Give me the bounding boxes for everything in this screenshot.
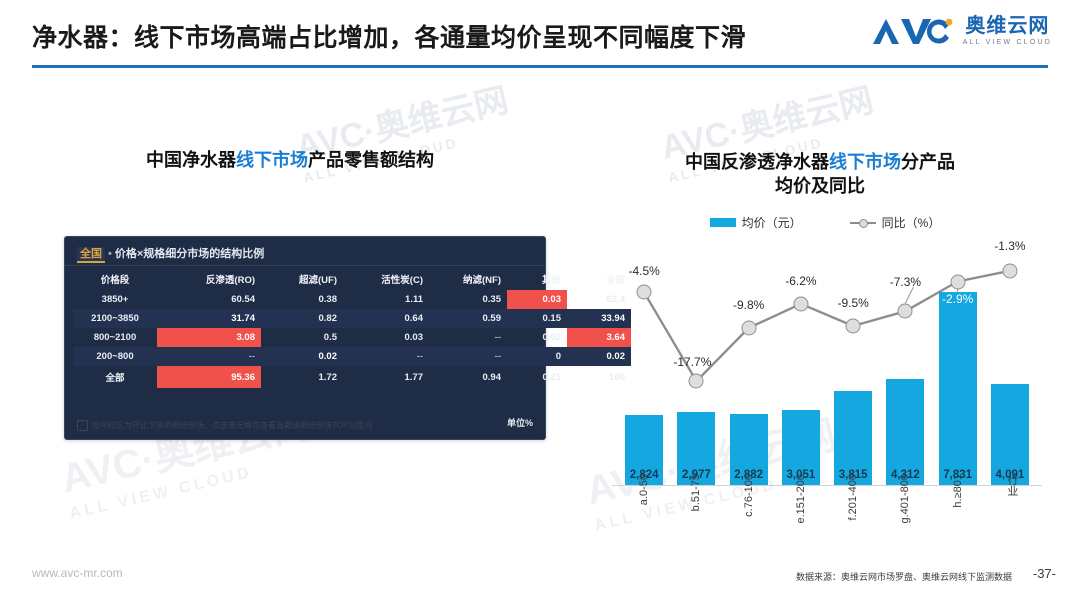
table-cell[interactable]: 0.15 xyxy=(507,309,567,328)
table-cell[interactable]: 0.94 xyxy=(429,366,507,388)
table-cell[interactable]: -- xyxy=(429,347,507,366)
legend-item-avg-price[interactable]: 均价（元） xyxy=(710,214,802,231)
chart-bar[interactable]: 7,831 xyxy=(939,292,977,485)
chart-line-point[interactable] xyxy=(637,285,652,300)
table-footnote: 图中红区为环比下降的细分市场，点击单元格可查看当期该细分市场TOP10型号 xyxy=(77,420,373,431)
chart-bar[interactable]: 4,091 xyxy=(991,384,1029,485)
table-cell[interactable]: 1.11 xyxy=(343,290,429,309)
table-cell[interactable]: 0.38 xyxy=(261,290,343,309)
avc-logo-text: 奥维云网 ALL VIEW CLOUD xyxy=(963,16,1052,46)
avc-logo: 奥维云网 ALL VIEW CLOUD xyxy=(869,16,1052,46)
chart-line-value-label: -7.3% xyxy=(890,275,921,289)
watermark-cn: 奥维云网 xyxy=(736,81,877,149)
watermark-mark: AVC xyxy=(57,440,146,501)
chart-line-value-label: -9.8% xyxy=(733,298,764,312)
yoy-line-path xyxy=(600,240,1050,486)
left-title-post: 产品零售额结构 xyxy=(308,150,434,170)
table-cell[interactable]: -- xyxy=(157,347,261,366)
left-title-highlight: 线下市场 xyxy=(236,150,308,170)
chart-line-point[interactable] xyxy=(846,319,861,334)
right-title-highlight: 线下市场 xyxy=(829,152,901,172)
table-column-header: 其他 xyxy=(507,268,567,290)
chart-line-point[interactable] xyxy=(1002,263,1017,278)
chart-line-value-label: -9.5% xyxy=(837,296,868,310)
table-cell[interactable]: 0.82 xyxy=(261,309,343,328)
table-cell[interactable]: 0.35 xyxy=(429,290,507,309)
table-cell[interactable]: -- xyxy=(343,347,429,366)
table-cell[interactable]: 95.36 xyxy=(157,366,261,388)
chart-x-axis-label: b.51-75 xyxy=(690,474,702,511)
card-divider xyxy=(65,265,545,266)
table-cell[interactable]: 60.54 xyxy=(157,290,261,309)
chart-line-point[interactable] xyxy=(741,321,756,336)
table-cell[interactable]: 3.08 xyxy=(157,328,261,347)
table-cell[interactable]: 31.74 xyxy=(157,309,261,328)
heading-separator: • xyxy=(108,248,112,260)
table-cell[interactable]: -- xyxy=(429,328,507,347)
avc-mark-icon xyxy=(869,16,955,46)
table-column-header: 价格段 xyxy=(73,268,157,290)
table-body: 3850+60.540.381.110.350.0362.42100~38503… xyxy=(73,290,631,388)
structure-table: 价格段反渗透(RO)超滤(UF)活性炭(C)纳滤(NF)其他全部 3850+60… xyxy=(73,268,631,388)
chart-x-axis-label: f.201-400 xyxy=(847,474,859,520)
legend-item-yoy[interactable]: 同比（%） xyxy=(850,214,941,231)
table-cell[interactable]: 0.5 xyxy=(261,328,343,347)
page-header: 净水器：线下市场高端占比增加，各通量均价呈现不同幅度下滑 奥维云网 ALL VI… xyxy=(0,0,1080,72)
chart-line-value-label: -1.3% xyxy=(994,239,1025,253)
page-title: 净水器：线下市场高端占比增加，各通量均价呈现不同幅度下滑 xyxy=(32,18,746,54)
watermark-cn: 奥维云网 xyxy=(371,81,512,149)
region-badge[interactable]: 全国 xyxy=(77,247,105,263)
table-cell[interactable]: 0.02 xyxy=(261,347,343,366)
legend-label-avg-price: 均价（元） xyxy=(742,214,802,231)
table-header-row: 价格段反渗透(RO)超滤(UF)活性炭(C)纳滤(NF)其他全部 xyxy=(73,268,631,290)
right-title-pre: 中国反渗透净水器 xyxy=(685,152,829,172)
table-row: 3850+60.540.381.110.350.0362.4 xyxy=(73,290,631,309)
chart-x-axis-label: h.≥801 xyxy=(952,474,964,508)
legend-bar-swatch-icon xyxy=(710,218,736,227)
left-chart-title: 中国净水器线下市场产品零售额结构 xyxy=(40,148,540,172)
card-heading-text: 价格×规格细分市场的结构比例 xyxy=(115,248,264,260)
header-divider xyxy=(32,65,1048,68)
info-icon xyxy=(77,420,88,431)
avc-logo-en: ALL VIEW CLOUD xyxy=(963,39,1052,46)
footnote-text: 图中红区为环比下降的细分市场，点击单元格可查看当期该细分市场TOP10型号 xyxy=(92,420,373,431)
table-cell[interactable]: 0.03 xyxy=(343,328,429,347)
chart-bar[interactable]: 4,312 xyxy=(886,379,924,485)
unit-label: 单位% xyxy=(507,416,533,429)
card-heading: 全国•价格×规格细分市场的结构比例 xyxy=(77,245,264,261)
table-cell[interactable]: 0 xyxy=(507,347,567,366)
table-column-header: 反渗透(RO) xyxy=(157,268,261,290)
chart-plot-area: 2,8242,9772,8823,0513,8154,3127,8314,091… xyxy=(600,240,1050,486)
table-row-label: 800~2100 xyxy=(73,328,157,347)
footer-url[interactable]: www.avc-mr.com xyxy=(32,566,123,580)
table-column-header: 超滤(UF) xyxy=(261,268,343,290)
table-column-header: 活性炭(C) xyxy=(343,268,429,290)
legend-label-yoy: 同比（%） xyxy=(882,214,941,231)
chart-line-point[interactable] xyxy=(793,296,808,311)
table-row: 2100~385031.740.820.640.590.1533.94 xyxy=(73,309,631,328)
chart-line-value-label: -4.5% xyxy=(628,264,659,278)
chart-line-value-label: -17.7% xyxy=(673,355,711,369)
chart-line-point[interactable] xyxy=(689,374,704,389)
table-cell[interactable]: 0.03 xyxy=(507,290,567,309)
right-title-post: 分产品 xyxy=(901,152,955,172)
table-row-label: 2100~3850 xyxy=(73,309,157,328)
table-row: 800~21003.080.50.03--0.023.64 xyxy=(73,328,631,347)
chart-bar[interactable]: 3,815 xyxy=(834,391,872,485)
footer-source: 数据来源：奥维云网市场罗盘、奥维云网线下监测数据 xyxy=(796,570,1012,583)
left-title-pre: 中国净水器 xyxy=(146,150,236,170)
chart-x-axis-label: c.76-100 xyxy=(743,474,755,517)
table-cell[interactable]: 0.59 xyxy=(429,309,507,328)
watermark-en: ALL VIEW CLOUD xyxy=(68,449,320,524)
table-cell[interactable]: 1.77 xyxy=(343,366,429,388)
table-cell[interactable]: 0.21 xyxy=(507,366,567,388)
table-row: 全部95.361.721.770.940.21100 xyxy=(73,366,631,388)
table-row-label: 200~800 xyxy=(73,347,157,366)
table-row: 200~800--0.02----00.02 xyxy=(73,347,631,366)
chart-line-value-label: -6.2% xyxy=(785,274,816,288)
chart-x-axis-label: g.401-800 xyxy=(899,474,911,524)
chart-x-axis-label: e.151-200 xyxy=(795,474,807,524)
chart-legend: 均价（元） 同比（%） xyxy=(600,214,1050,231)
table-cell[interactable]: 0.64 xyxy=(343,309,429,328)
table-row-label: 3850+ xyxy=(73,290,157,309)
page-number: -37- xyxy=(1033,566,1056,581)
structure-table-card: 全国•价格×规格细分市场的结构比例 价格段反渗透(RO)超滤(UF)活性炭(C)… xyxy=(64,236,546,440)
table-cell[interactable]: 1.72 xyxy=(261,366,343,388)
right-chart-title: 中国反渗透净水器线下市场分产品 均价及同比 xyxy=(600,150,1040,199)
avc-logo-cn: 奥维云网 xyxy=(965,16,1049,36)
legend-line-swatch-icon xyxy=(850,218,876,227)
table-cell[interactable]: 0.02 xyxy=(507,328,567,347)
table-column-header: 纳滤(NF) xyxy=(429,268,507,290)
price-yoy-chart: 均价（元） 同比（%） 2,8242,9772,8823,0513,8154,3… xyxy=(600,214,1050,544)
chart-line-point[interactable] xyxy=(898,304,913,319)
chart-line-point[interactable] xyxy=(950,274,965,289)
table-row-label: 全部 xyxy=(73,366,157,388)
chart-line-value-label: -2.9% xyxy=(940,292,975,306)
right-title-line2: 均价及同比 xyxy=(775,176,865,196)
chart-x-axis-label: a.0-50 xyxy=(638,474,650,505)
chart-x-axis-label: 行业 xyxy=(1004,474,1020,496)
